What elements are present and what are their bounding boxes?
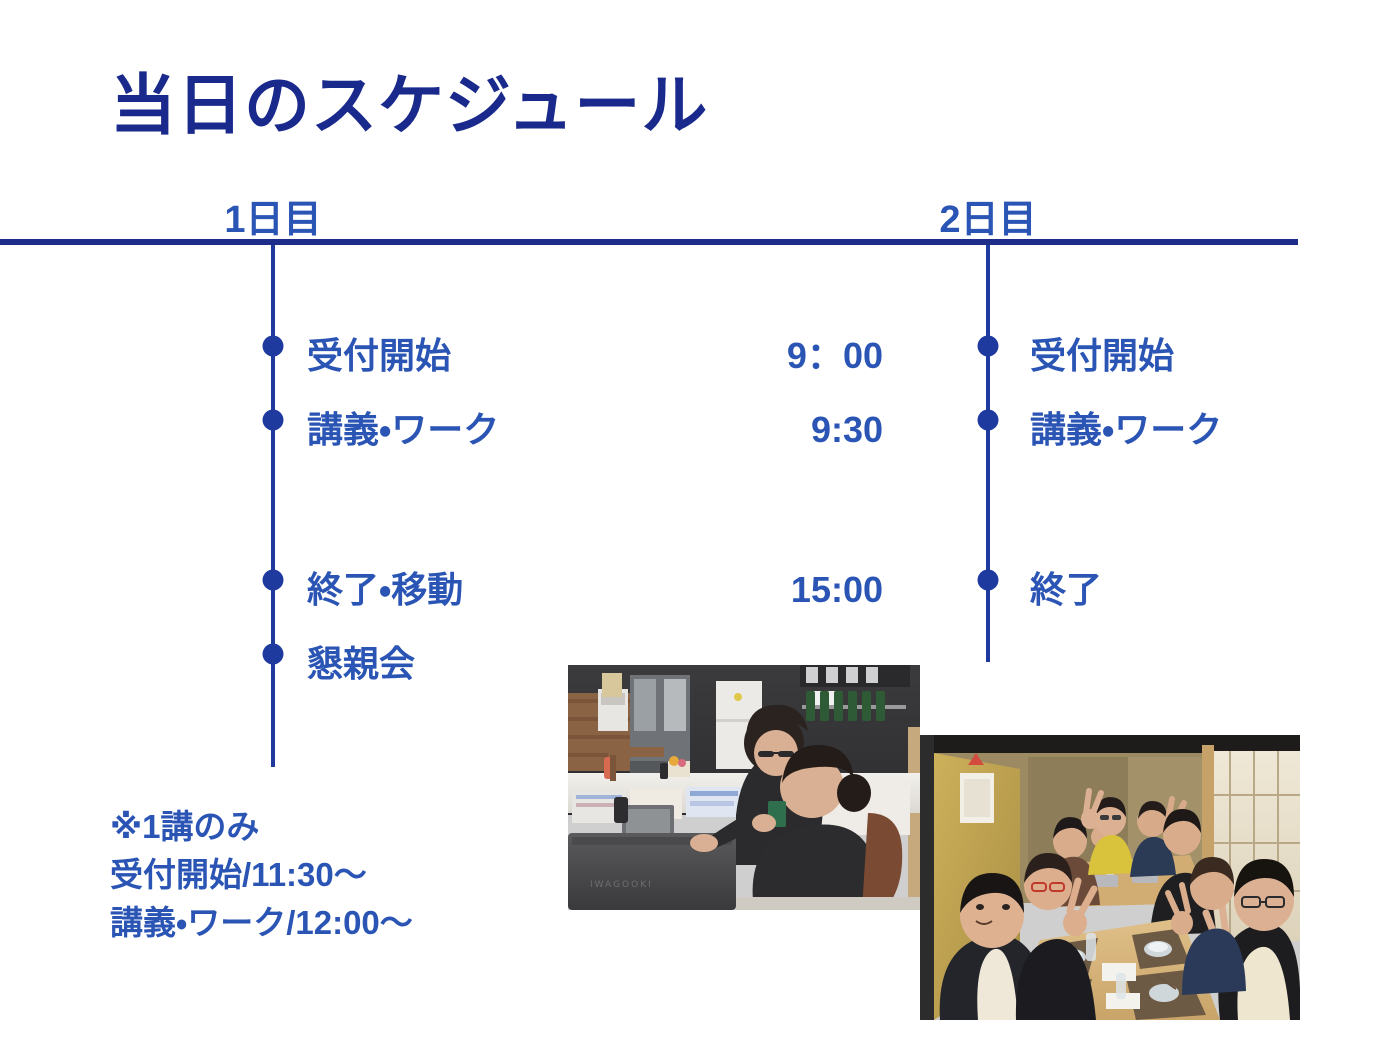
social-gathering-illustration [920,735,1300,1020]
timeline-entry: 18:30 懇親会 [0,638,600,690]
schedule-slide: 当日のスケジュール 1日目 2日目 13:30 受付開始 14:00 講義・ワー… [0,0,1400,1050]
entry-time: 9:30 [811,412,883,448]
entry-label: 講義・ワーク [1030,412,1222,448]
entry-time: 9：00 [787,338,883,374]
day-header-2: 2日目 [939,201,1036,239]
day-header-1: 1日目 [224,201,321,239]
footnote-line-3: 講義・ワーク/12:00〜 [110,899,413,947]
timeline-entry: 9:30 講義・ワーク [0,404,1330,456]
workshop-office-illustration: IWAGOOKI [568,665,920,910]
timeline-axis-rule [0,239,1298,245]
entry-label: 受付開始 [1030,338,1174,374]
entry-label: 終了 [1030,572,1102,608]
footnote-line-2: 受付開始/11:30〜 [110,851,413,899]
footnote-block: ※1講のみ 受付開始/11:30〜 講義・ワーク/12:00〜 [110,803,413,947]
timeline-entry: 15:00 終了 [0,564,1330,616]
entry-label: 懇親会 [307,646,415,682]
timeline-entry: 9：00 受付開始 [0,330,1330,382]
social-gathering-photo [920,735,1300,1020]
timeline-dot-icon [978,335,999,356]
svg-text:IWAGOOKI: IWAGOOKI [590,880,653,890]
page-title: 当日のスケジュール [110,72,708,138]
entry-time: 15:00 [791,572,883,608]
timeline-dot-icon [263,643,284,664]
timeline-dot-icon [978,409,999,430]
workshop-office-photo: IWAGOOKI [568,665,920,910]
timeline-dot-icon [978,569,999,590]
footnote-line-1: ※1講のみ [110,803,413,851]
